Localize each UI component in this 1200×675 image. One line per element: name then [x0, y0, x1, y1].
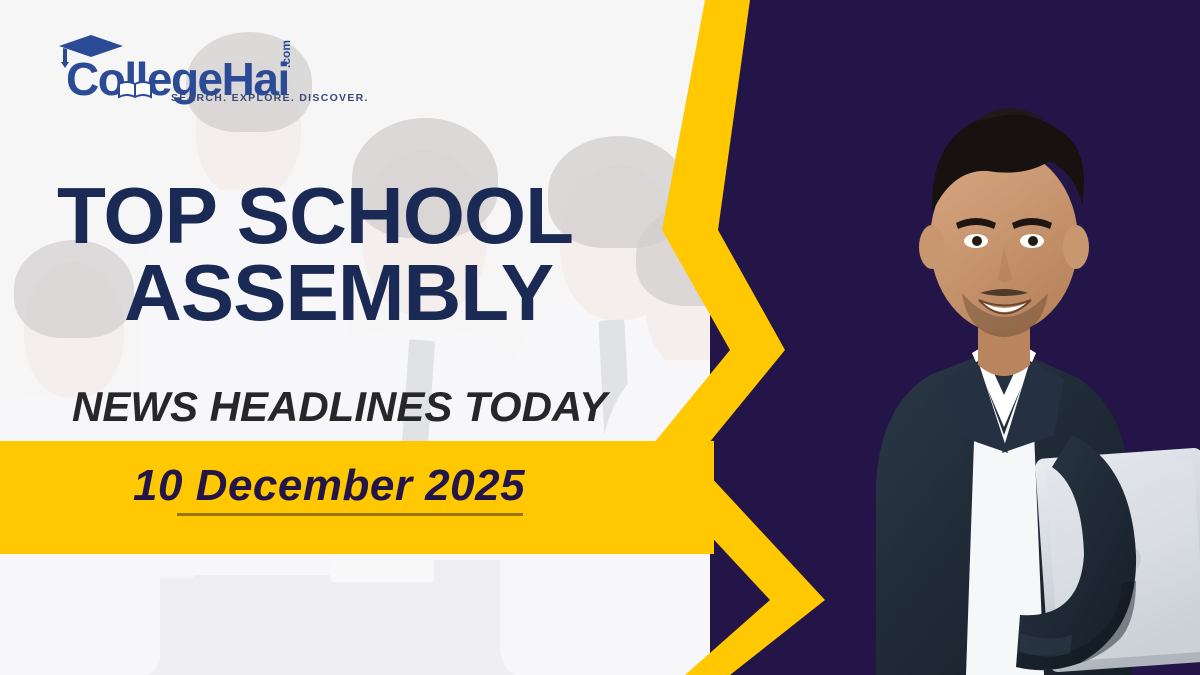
- page-title: TOP SCHOOL ASSEMBLY: [57, 178, 573, 332]
- headline-line-2: ASSEMBLY: [124, 255, 573, 332]
- headline-line-1: TOP SCHOOL: [57, 171, 573, 260]
- promo-banner: 10 December 2025 TOP SCHOOL ASSEMBLY NEW…: [0, 0, 1200, 675]
- date-text: 10 December 2025: [133, 461, 525, 511]
- subheadline: NEWS HEADLINES TODAY: [72, 383, 607, 431]
- collegehai-logo[interactable]: CollegeHai .com SEARCH. EXPLORE. DISCOVE…: [36, 30, 306, 108]
- logo-dotcom: .com: [279, 40, 293, 68]
- date-underline-rule: [177, 513, 523, 516]
- student-portrait-photo: [780, 35, 1200, 675]
- open-book-icon: [118, 80, 152, 100]
- logo-tagline: SEARCH. EXPLORE. DISCOVER.: [171, 92, 369, 104]
